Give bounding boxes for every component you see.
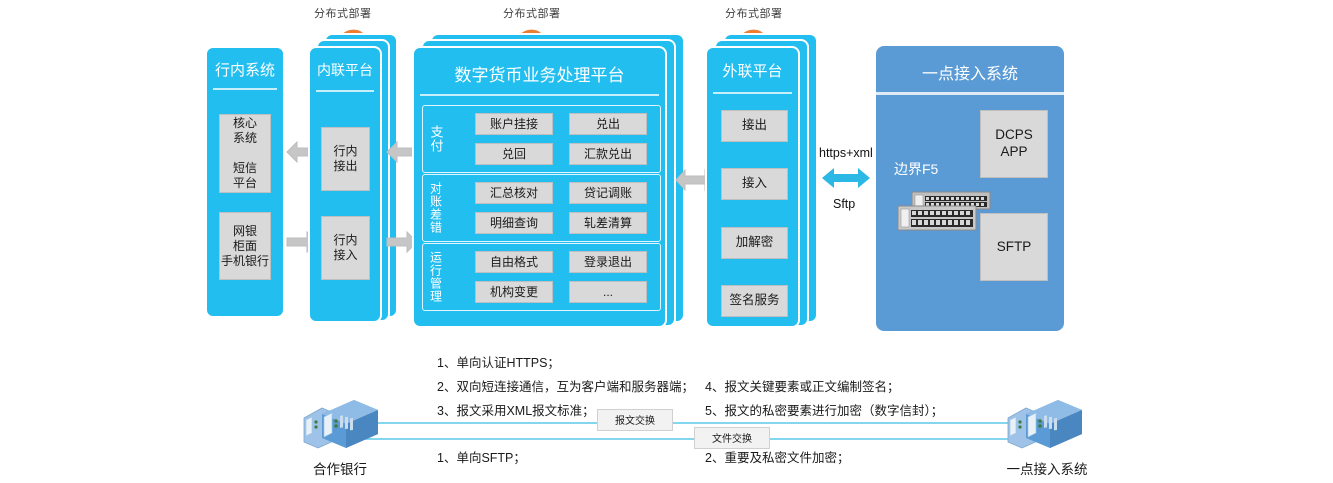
chip-sftp[interactable]: SFTP bbox=[980, 213, 1048, 281]
server-icon-access-system bbox=[1000, 400, 1088, 452]
chip-encrypt-decrypt[interactable]: 加解密 bbox=[721, 227, 788, 259]
panel-external-platform: 外联平台 接出 接入 加解密 签名服务 bbox=[705, 46, 800, 328]
panel-intranet-platform: 内联平台 行内 接出 行内 接入 bbox=[308, 46, 382, 323]
panel-stack-dcep: 数字货币业务处理平台 支付 账户挂接 兑出 兑回 汇款兑出 对账差错 汇总核对 … bbox=[412, 33, 692, 328]
chip-account-link[interactable]: 账户挂接 bbox=[475, 113, 553, 135]
group-payment: 支付 账户挂接 兑出 兑回 汇款兑出 bbox=[422, 105, 661, 173]
chip-ext-outbound[interactable]: 接出 bbox=[721, 110, 788, 142]
chip-login-logout[interactable]: 登录退出 bbox=[569, 251, 647, 273]
group-label-reconciliation: 对账差错 bbox=[425, 175, 447, 241]
group-label-operations: 运行管理 bbox=[425, 244, 447, 310]
chip-ext-inbound[interactable]: 接入 bbox=[721, 168, 788, 200]
panel-access-system: 一点接入系统 边界F5 bbox=[876, 46, 1064, 331]
chip-exchange-back[interactable]: 兑回 bbox=[475, 143, 553, 165]
chip-core-system[interactable]: 核心 系统 短信 平台 bbox=[219, 114, 271, 193]
panel-title-external: 外联平台 bbox=[707, 60, 798, 81]
footer-note-file-encrypt: 2、重要及私密文件加密； bbox=[705, 447, 849, 466]
chip-ebank-counter-mobile[interactable]: 网银 柜面 手机银行 bbox=[219, 212, 271, 280]
group-reconciliation: 对账差错 汇总核对 贷记调账 明细查询 轧差清算 bbox=[422, 174, 661, 242]
panel-divider bbox=[213, 88, 277, 90]
chip-exchange-out[interactable]: 兑出 bbox=[569, 113, 647, 135]
footer-note-4: 4、报文关键要素或正文编制签名； bbox=[705, 376, 899, 395]
panel-divider bbox=[876, 92, 1064, 95]
panel-divider bbox=[316, 90, 374, 92]
footer-note-sftp: 1、单向SFTP； bbox=[437, 447, 526, 466]
server-label-partner-bank: 合作银行 bbox=[292, 458, 388, 478]
chip-intranet-inbound[interactable]: 行内 接入 bbox=[321, 216, 370, 280]
panel-title-bank-internal: 行内系统 bbox=[207, 59, 283, 80]
panel-bank-internal-system: 行内系统 核心 系统 短信 平台 网银 柜面 手机银行 bbox=[205, 46, 285, 318]
panel-dcep-platform: 数字货币业务处理平台 支付 账户挂接 兑出 兑回 汇款兑出 对账差错 汇总核对 … bbox=[412, 46, 667, 328]
chip-detail-query[interactable]: 明细查询 bbox=[475, 212, 553, 234]
label-file-exchange: 文件交换 bbox=[694, 427, 770, 449]
panel-divider bbox=[420, 94, 659, 96]
server-icon-partner-bank bbox=[296, 400, 384, 452]
line-file-exchange bbox=[336, 433, 1042, 445]
chip-credit-adjust[interactable]: 贷记调账 bbox=[569, 182, 647, 204]
link-label-https-xml: https+xml bbox=[819, 146, 873, 160]
chip-remittance-out[interactable]: 汇款兑出 bbox=[569, 143, 647, 165]
link-label-sftp: Sftp bbox=[833, 197, 855, 211]
panel-title-intranet: 内联平台 bbox=[310, 60, 380, 80]
label-message-exchange: 报文交换 bbox=[597, 409, 673, 431]
panel-stack-intranet: 内联平台 行内 接出 行内 接入 bbox=[308, 33, 398, 323]
distributed-label-intranet: 分布式部署 bbox=[314, 5, 372, 21]
chip-more[interactable]: ... bbox=[569, 281, 647, 303]
group-operations: 运行管理 自由格式 登录退出 机构变更 ... bbox=[422, 243, 661, 311]
group-label-payment: 支付 bbox=[425, 106, 447, 172]
distributed-label-external: 分布式部署 bbox=[725, 5, 783, 21]
footer-note-2: 2、双向短连接通信，互为客户端和服务器端； bbox=[437, 376, 694, 395]
chip-signature-service[interactable]: 签名服务 bbox=[721, 285, 788, 317]
footer-note-1: 1、单向认证HTTPS； bbox=[437, 352, 560, 371]
architecture-diagram: 分布式部署 分布式部署 分布式部署 行内系统 核心 系统 短信 平台 网银 柜面… bbox=[0, 0, 1333, 483]
server-label-access-system: 一点接入系统 bbox=[992, 458, 1102, 478]
panel-title-access-system: 一点接入系统 bbox=[876, 60, 1064, 84]
chip-summary-check[interactable]: 汇总核对 bbox=[475, 182, 553, 204]
chip-netting-settle[interactable]: 轧差清算 bbox=[569, 212, 647, 234]
chip-org-change[interactable]: 机构变更 bbox=[475, 281, 553, 303]
panel-title-dcep: 数字货币业务处理平台 bbox=[414, 61, 665, 86]
chip-dcps-app[interactable]: DCPS APP bbox=[980, 110, 1048, 178]
panel-divider bbox=[713, 92, 792, 94]
arrow-external-access-bidirectional bbox=[822, 167, 870, 189]
label-border-f5: 边界F5 bbox=[894, 159, 938, 179]
line-message-exchange bbox=[336, 417, 1042, 429]
f5-switch-icon bbox=[896, 190, 992, 232]
distributed-label-dcep: 分布式部署 bbox=[503, 5, 561, 21]
chip-intranet-outbound[interactable]: 行内 接出 bbox=[321, 127, 370, 191]
chip-free-format[interactable]: 自由格式 bbox=[475, 251, 553, 273]
panel-stack-external: 外联平台 接出 接入 加解密 签名服务 bbox=[705, 33, 825, 328]
